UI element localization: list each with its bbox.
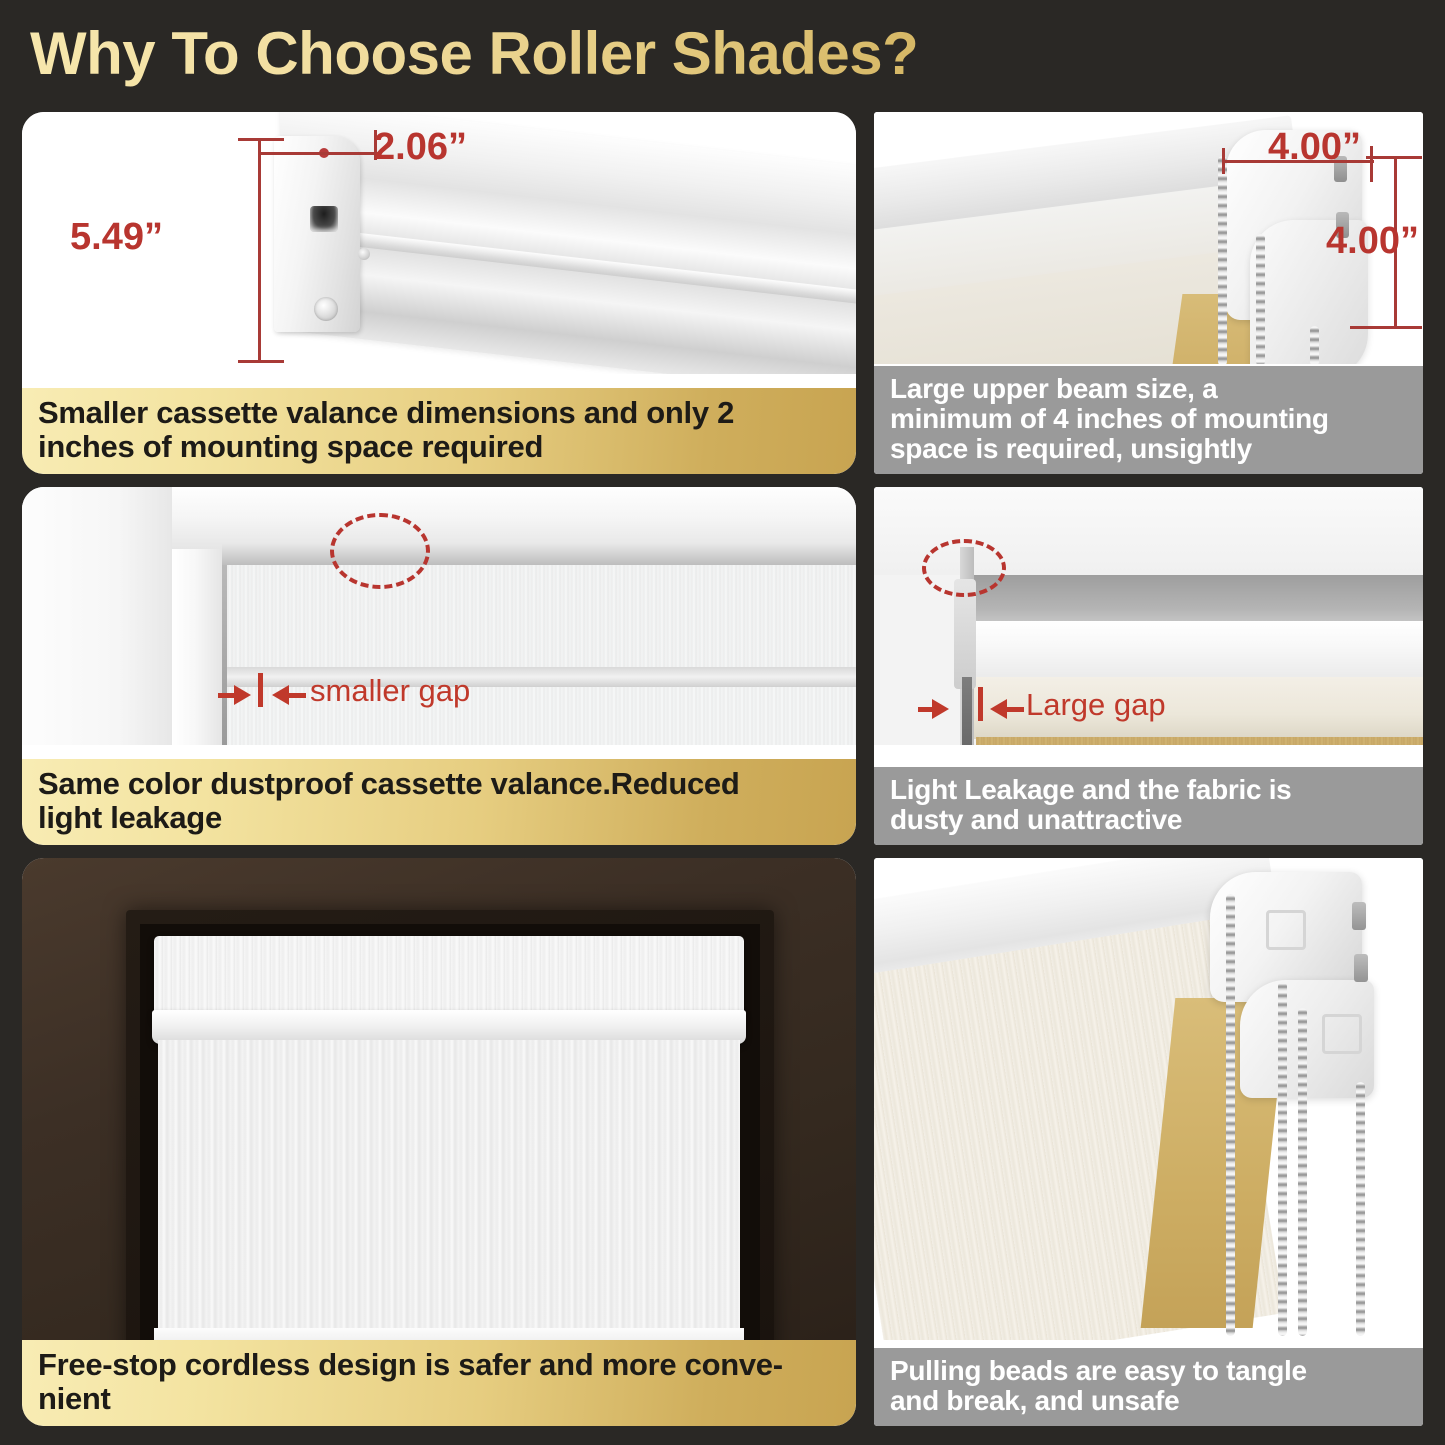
height-dim-line: [258, 140, 261, 362]
panel-pulling-beads: Pulling beads are easy to tangle and bre…: [874, 858, 1423, 1426]
panel-cordless-design: Free-stop cordless design is safer and m…: [22, 858, 856, 1426]
gap-arrow-left-icon: [272, 685, 289, 705]
caption-line: nient: [38, 1382, 840, 1416]
caption-line: minimum of 4 inches of mounting: [890, 404, 1407, 434]
bead-chain-front: [1218, 156, 1227, 364]
highlight-circle-icon: [330, 513, 430, 589]
panel-large-gap: Large gap Light Leakage and the fabric i…: [874, 487, 1423, 845]
panel-cassette-valance-image: 2.06” 5.49”: [22, 112, 856, 374]
caption-line: and break, and unsafe: [890, 1386, 1407, 1416]
cassette-valance-head: [222, 543, 856, 565]
gap-arrow-stem-left: [218, 693, 238, 698]
page-title: Why To Choose Roller Shades?: [30, 18, 1130, 90]
caption-line: inches of mounting space required: [38, 430, 840, 464]
height-dim-tick-top: [238, 138, 284, 141]
infographic-page: Why To Choose Roller Shades? 2.06” 5.49”…: [0, 0, 1445, 1445]
caption-line: Smaller cassette valance dimensions and …: [38, 396, 840, 430]
beam-width-tick-right: [1370, 146, 1373, 182]
valance-slot: [310, 206, 338, 232]
gap-arrow-stem-right: [1006, 707, 1024, 712]
bracket-notch-lower: [1354, 954, 1368, 982]
panel-cordless-design-image: [22, 858, 856, 1340]
panel-large-gap-image: Large gap: [874, 487, 1423, 745]
bead-chain-mid: [1278, 982, 1287, 1336]
bracket-arrow-icon: [1266, 910, 1306, 950]
panel-smaller-gap-image: smaller gap: [22, 487, 856, 745]
bead-chain-back: [1310, 326, 1319, 364]
panel-large-upper-beam: 4.00” 4.00” Large upper beam size, a min…: [874, 112, 1423, 474]
panel-pulling-beads-image: [874, 858, 1423, 1340]
panel-pulling-beads-caption: Pulling beads are easy to tangle and bre…: [874, 1348, 1423, 1426]
large-gap-label: Large gap: [1026, 687, 1166, 723]
beam-height-label: 4.00”: [1326, 220, 1419, 263]
gap-measure-tick: [978, 687, 983, 721]
height-dim-tick-bottom: [238, 360, 284, 363]
caption-line: Free-stop cordless design is safer and m…: [38, 1348, 840, 1382]
shade-side-gap: [222, 565, 227, 745]
valance-screw-upper: [358, 248, 370, 260]
width-dimension-label: 2.06”: [374, 126, 467, 169]
smaller-gap-label: smaller gap: [310, 673, 470, 709]
window-casing-top: [172, 487, 856, 549]
gap-arrow-stem-left: [918, 707, 936, 712]
shade-side-gap-large: [962, 677, 972, 745]
caption-line: light leakage: [38, 801, 840, 835]
bead-chain-mid: [1256, 234, 1265, 364]
bracket-notch-upper: [1352, 902, 1366, 930]
beam-width-label: 4.00”: [1268, 126, 1361, 169]
panel-large-upper-beam-image: 4.00” 4.00”: [874, 112, 1423, 364]
panel-cordless-design-caption: Free-stop cordless design is safer and m…: [22, 1340, 856, 1426]
tan-shade-fabric: [976, 737, 1423, 745]
caption-line: Pulling beads are easy to tangle: [890, 1356, 1407, 1386]
valance-screw-lower: [314, 297, 338, 321]
height-dimension-label: 5.49”: [70, 216, 163, 259]
roller-shade-fabric: [158, 1040, 740, 1335]
shade-bottom-rail: [154, 1328, 744, 1340]
panel-smaller-gap: smaller gap Same color dustproof cassett…: [22, 487, 856, 845]
beam-height-tick-bottom: [1350, 326, 1422, 329]
bead-chain-front: [1226, 894, 1235, 1336]
width-dim-line: [258, 152, 378, 155]
caption-line: Light Leakage and the fabric is: [890, 775, 1407, 805]
beam-height-tick-top: [1366, 156, 1422, 159]
gap-measure-tick: [258, 673, 263, 707]
cassette-valance: [154, 936, 744, 1020]
highlight-circle-icon: [922, 539, 1006, 597]
gap-arrow-left-icon: [990, 699, 1007, 719]
panel-cassette-valance: 2.06” 5.49” Smaller cassette valance dim…: [22, 112, 856, 474]
bead-chain-mid-2: [1298, 1008, 1307, 1336]
bead-chain-back: [1356, 1082, 1365, 1336]
caption-line: Large upper beam size, a: [890, 374, 1407, 404]
gap-arrow-stem-right: [288, 693, 306, 698]
shade-fabric-band-top: [226, 565, 856, 670]
bracket-arrow-icon: [1322, 1014, 1362, 1054]
panel-cassette-valance-caption: Smaller cassette valance dimensions and …: [22, 388, 856, 474]
upper-beam-cover: [972, 621, 1423, 683]
window-wall-left: [22, 487, 182, 745]
panel-smaller-gap-caption: Same color dustproof cassette valance.Re…: [22, 759, 856, 845]
panel-large-upper-beam-caption: Large upper beam size, a minimum of 4 in…: [874, 366, 1423, 474]
cassette-valance-lip: [152, 1010, 746, 1044]
caption-line: dusty and unattractive: [890, 805, 1407, 835]
panel-large-gap-caption: Light Leakage and the fabric is dusty an…: [874, 767, 1423, 845]
caption-line: space is required, unsightly: [890, 434, 1407, 464]
caption-line: Same color dustproof cassette valance.Re…: [38, 767, 840, 801]
